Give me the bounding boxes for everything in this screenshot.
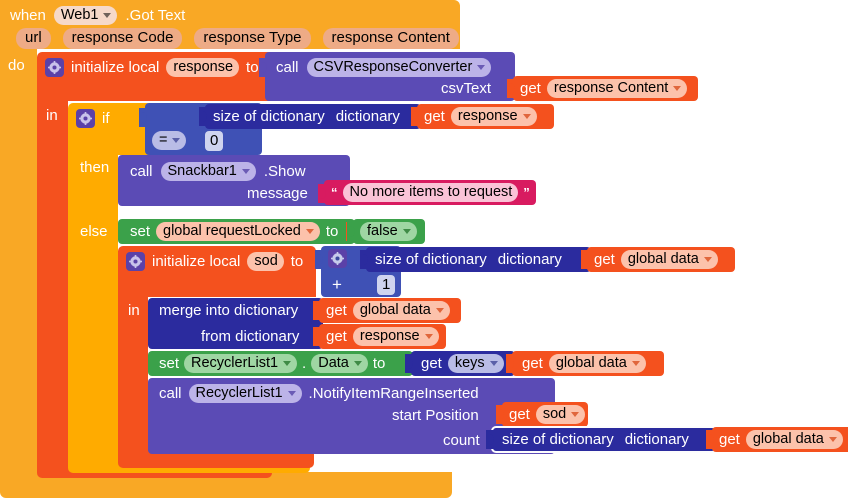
snackbar-component-dropdown[interactable]: Snackbar1	[161, 162, 256, 181]
procedure-name-dropdown[interactable]: CSVResponseConverter	[307, 58, 492, 77]
variable-dropdown[interactable]: global data	[621, 250, 718, 269]
chevron-down-icon	[103, 13, 111, 18]
chevron-down-icon	[288, 391, 296, 396]
event-param-response-content[interactable]: response Content	[323, 28, 459, 49]
set-label: set	[159, 356, 179, 371]
to-label: to	[291, 254, 304, 269]
local-response-row: initialize local response to	[45, 56, 259, 78]
get-label: get	[424, 109, 445, 124]
start-position-socket-label: start Position	[392, 408, 479, 423]
to-label: to	[246, 60, 259, 75]
variable-dropdown[interactable]: sod	[536, 405, 585, 424]
size-of-dictionary-label: size of dictionary	[502, 432, 614, 447]
dictionary-socket-label: dictionary	[336, 109, 400, 124]
message-socket-label: message	[247, 186, 308, 201]
comparison-plug	[139, 108, 148, 127]
set-recyclerlist-data-row: set RecyclerList1 . Data to	[159, 354, 385, 373]
dictionary-socket-label: dictionary	[625, 432, 689, 447]
count-socket-label: count	[443, 433, 480, 448]
chevron-down-icon	[673, 86, 681, 91]
event-params: url response Code response Type response…	[16, 28, 459, 49]
global-variable-dropdown[interactable]: global requestLocked	[156, 222, 320, 241]
operator-field[interactable]: =	[152, 131, 186, 150]
get-label: get	[421, 356, 442, 371]
get-response-content-plug	[507, 79, 516, 98]
variable-dropdown[interactable]: global data	[746, 430, 843, 449]
event-param-response-type[interactable]: response Type	[194, 28, 310, 49]
logic-false-field-wrap: false	[360, 222, 417, 241]
if-row: if	[76, 107, 110, 129]
get-global-data-plug	[581, 250, 590, 269]
size-of-dictionary-row: size of dictionary dictionary	[213, 107, 400, 126]
if-label: if	[102, 111, 110, 126]
blocks-workspace[interactable]: when Web1 .Got Text url response Code re…	[0, 0, 848, 503]
chevron-down-icon	[490, 361, 498, 366]
number-block-one[interactable]: 1	[377, 275, 395, 295]
when-label: when	[10, 8, 46, 23]
event-param-response-code[interactable]: response Code	[63, 28, 183, 49]
get-global-data-row: get global data	[594, 250, 718, 269]
if-else-left-spine	[68, 155, 118, 451]
mutator-gear-icon[interactable]	[45, 58, 64, 77]
chevron-down-icon	[436, 308, 444, 313]
chevron-down-icon	[477, 65, 485, 70]
call-snackbar-header: call Snackbar1 .Show	[130, 160, 306, 182]
open-quote: “	[331, 186, 338, 199]
mutator-gear-icon[interactable]	[76, 109, 95, 128]
size-of-dictionary-plug	[360, 250, 369, 269]
local-response-in-label: in	[46, 108, 58, 123]
chevron-down-icon	[425, 334, 433, 339]
number-block-zero[interactable]: 0	[205, 131, 223, 151]
merge-into-dictionary-label: merge into dictionary	[159, 303, 298, 318]
get-global-data-row: get global data	[326, 301, 450, 320]
variable-dropdown[interactable]: global data	[549, 354, 646, 373]
set-global-row: set global requestLocked to	[130, 222, 338, 241]
get-sod-row: get sod	[509, 405, 585, 424]
size-of-dictionary-plug	[486, 430, 495, 449]
local-sod-left-spine	[118, 297, 148, 446]
local-sod-name-field[interactable]: sod	[247, 252, 283, 271]
dot-separator: .	[302, 356, 306, 371]
mutator-gear-icon[interactable]	[328, 249, 347, 268]
logic-false-plug	[347, 222, 356, 241]
get-label: get	[520, 81, 541, 96]
chevron-down-icon	[242, 169, 250, 174]
get-label: get	[326, 303, 347, 318]
math-operator-label: +	[332, 277, 342, 292]
chevron-down-icon	[632, 361, 640, 366]
chevron-down-icon	[172, 138, 180, 143]
event-block-header: when Web1 .Got Text	[10, 4, 185, 26]
get-label: get	[509, 407, 530, 422]
get-global-data-plug	[506, 354, 515, 373]
then-label: then	[80, 160, 109, 175]
component-dropdown[interactable]: RecyclerList1	[184, 354, 297, 373]
variable-dropdown[interactable]: global data	[353, 301, 450, 320]
method-label: .Show	[264, 164, 306, 179]
variable-dropdown[interactable]: response Content	[547, 79, 687, 98]
chevron-down-icon	[829, 437, 837, 442]
size-of-dictionary-row: size of dictionary dictionary	[375, 250, 562, 269]
text-block-plug	[318, 184, 327, 203]
chevron-down-icon	[523, 114, 531, 119]
csvtext-socket-label: csvText	[441, 81, 491, 96]
math-gear-wrap	[328, 249, 347, 268]
initialize-local-label: initialize local	[152, 254, 240, 269]
get-label: get	[326, 329, 347, 344]
get-response-content-row: get response Content	[520, 79, 687, 98]
chevron-down-icon	[403, 229, 411, 234]
get-global-data-plug	[706, 430, 715, 449]
property-dropdown[interactable]: Data	[311, 354, 368, 373]
get-sod-plug	[496, 405, 505, 424]
get-global-data-plug	[313, 301, 322, 320]
size-of-dictionary-plug	[199, 107, 208, 126]
text-value-field[interactable]: No more items to request	[343, 183, 519, 202]
call-notify-header: call RecyclerList1 .NotifyItemRangeInser…	[159, 382, 479, 404]
event-component-dropdown[interactable]: Web1	[54, 6, 118, 25]
size-of-dictionary-row: size of dictionary dictionary	[502, 430, 689, 449]
call-label: call	[159, 386, 182, 401]
call-label: call	[130, 164, 153, 179]
mutator-gear-icon[interactable]	[126, 252, 145, 271]
comparison-operator-dropdown[interactable]: =	[152, 131, 186, 150]
get-response-plug	[313, 327, 322, 346]
size-of-dictionary-label: size of dictionary	[213, 109, 325, 124]
get-response-plug	[411, 107, 420, 126]
get-keys-plug	[405, 354, 414, 373]
close-quote: ”	[523, 186, 530, 199]
event-do-label: do	[8, 58, 25, 73]
chevron-down-icon	[306, 229, 314, 234]
chevron-down-icon	[354, 361, 362, 366]
call-csvresponseconverter-plug	[259, 58, 268, 77]
dictionary-socket-label: dictionary	[498, 252, 562, 267]
number-field[interactable]: 1	[377, 275, 395, 295]
method-label: .NotifyItemRangeInserted	[309, 386, 479, 401]
event-name-label: .Got Text	[125, 8, 185, 23]
get-keys-row: get keys	[421, 354, 504, 373]
size-of-dictionary-label: size of dictionary	[375, 252, 487, 267]
get-response-row: get response	[326, 327, 439, 346]
variable-dropdown[interactable]: response	[451, 107, 537, 126]
get-global-data-row: get global data	[719, 430, 843, 449]
logic-value-dropdown[interactable]: false	[360, 222, 417, 241]
text-block-row: “ No more items to request ”	[331, 183, 530, 202]
get-label: get	[594, 252, 615, 267]
to-label: to	[373, 356, 386, 371]
chevron-down-icon	[571, 412, 579, 417]
get-label: get	[719, 432, 740, 447]
get-global-data-row: get global data	[522, 354, 646, 373]
local-response-name-field[interactable]: response	[166, 58, 239, 77]
set-label: set	[130, 224, 150, 239]
math-add-plug	[315, 250, 324, 269]
keys-selector-dropdown[interactable]: keys	[448, 354, 504, 373]
local-sod-in-label: in	[128, 303, 140, 318]
component-dropdown[interactable]: RecyclerList1	[189, 384, 302, 403]
initialize-local-label: initialize local	[71, 60, 159, 75]
math-operand2-socket	[352, 275, 361, 294]
call-label: call	[276, 60, 299, 75]
number-field[interactable]: 0	[205, 131, 223, 151]
event-param-url[interactable]: url	[16, 28, 51, 49]
local-response-left-spine	[37, 101, 68, 456]
chevron-down-icon	[704, 257, 712, 262]
get-response-row: get response	[424, 107, 537, 126]
else-label: else	[80, 224, 108, 239]
comparison-right-socket	[196, 131, 205, 150]
get-label: get	[522, 356, 543, 371]
local-sod-row: initialize local sod to	[126, 250, 303, 272]
to-label: to	[326, 224, 339, 239]
event-block-left-spine	[0, 49, 37, 472]
call-csvresponseconverter-header: call CSVResponseConverter	[276, 56, 491, 78]
chevron-down-icon	[283, 361, 291, 366]
variable-dropdown[interactable]: response	[353, 327, 439, 346]
from-dictionary-label: from dictionary	[201, 329, 299, 344]
